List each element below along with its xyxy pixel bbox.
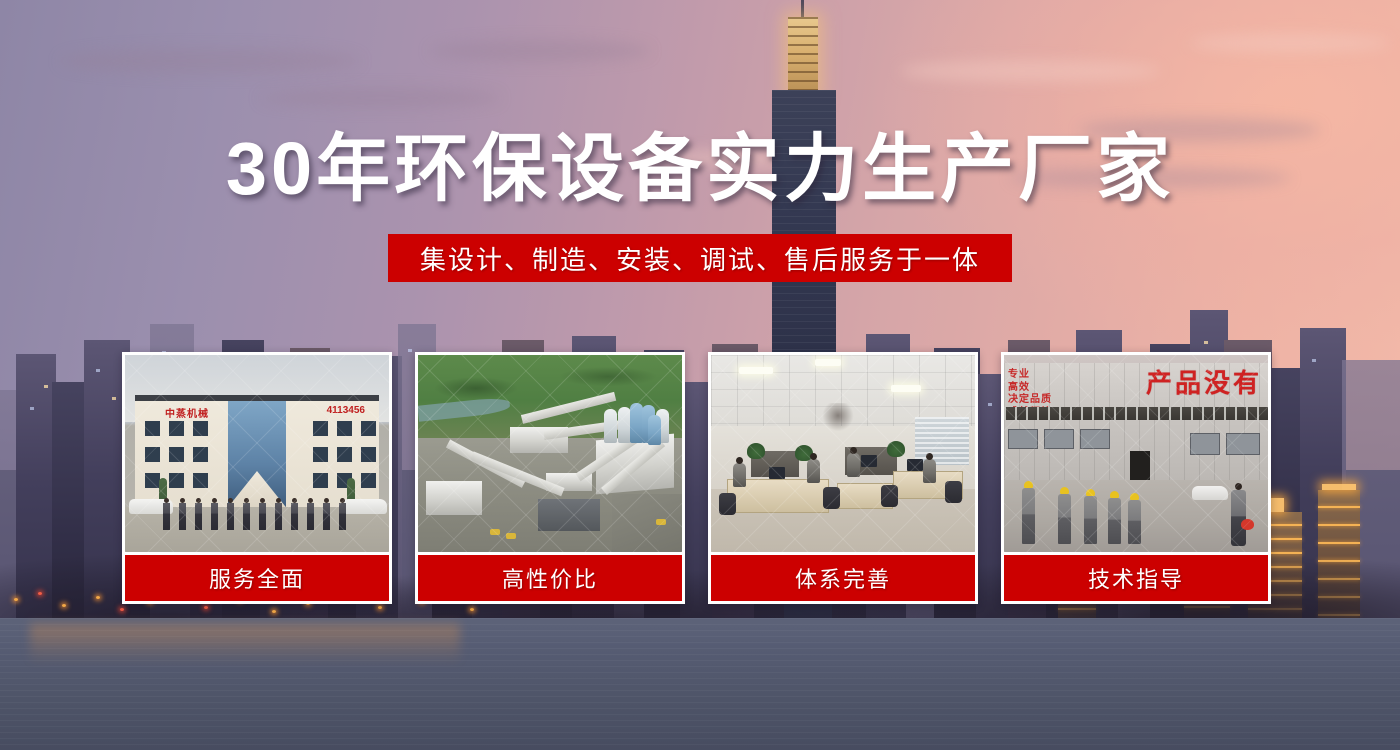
card-caption: 技术指导 [1004, 555, 1268, 601]
red-helmet-icon [1241, 519, 1254, 530]
feature-card[interactable]: 中蒸机械 4113456 [122, 352, 392, 604]
workers-training-photo: 产品没有 专业 高效 决定品质 成就辉煌 [1004, 355, 1268, 552]
water-reflection [30, 624, 460, 664]
company-headquarters-photo: 中蒸机械 4113456 [125, 355, 389, 552]
building-phone-text: 4113456 [327, 405, 365, 416]
feature-card-list: 中蒸机械 4113456 [122, 352, 1278, 604]
feature-card[interactable]: 产品没有 专业 高效 决定品质 成就辉煌 [1001, 352, 1271, 604]
card-caption: 高性价比 [418, 555, 682, 601]
river-water [0, 618, 1400, 750]
factory-wall-slogan: 产品没有 [1146, 363, 1262, 400]
office-interior-photo [711, 355, 975, 552]
page-title: 30年环保设备实力生产厂家 [0, 132, 1400, 206]
feature-card[interactable]: 体系完善 [708, 352, 978, 604]
aerial-plant-photo [418, 355, 682, 552]
hero-banner: 30年环保设备实力生产厂家 集设计、制造、安装、调试、售后服务于一体 [0, 0, 1400, 750]
card-caption: 服务全面 [125, 555, 389, 601]
building-sign-text: 中蒸机械 [165, 405, 209, 420]
subtitle-banner: 集设计、制造、安装、调试、售后服务于一体 [388, 234, 1012, 282]
feature-card[interactable]: 高性价比 [415, 352, 685, 604]
card-caption: 体系完善 [711, 555, 975, 601]
tower-crown-light [788, 17, 818, 95]
